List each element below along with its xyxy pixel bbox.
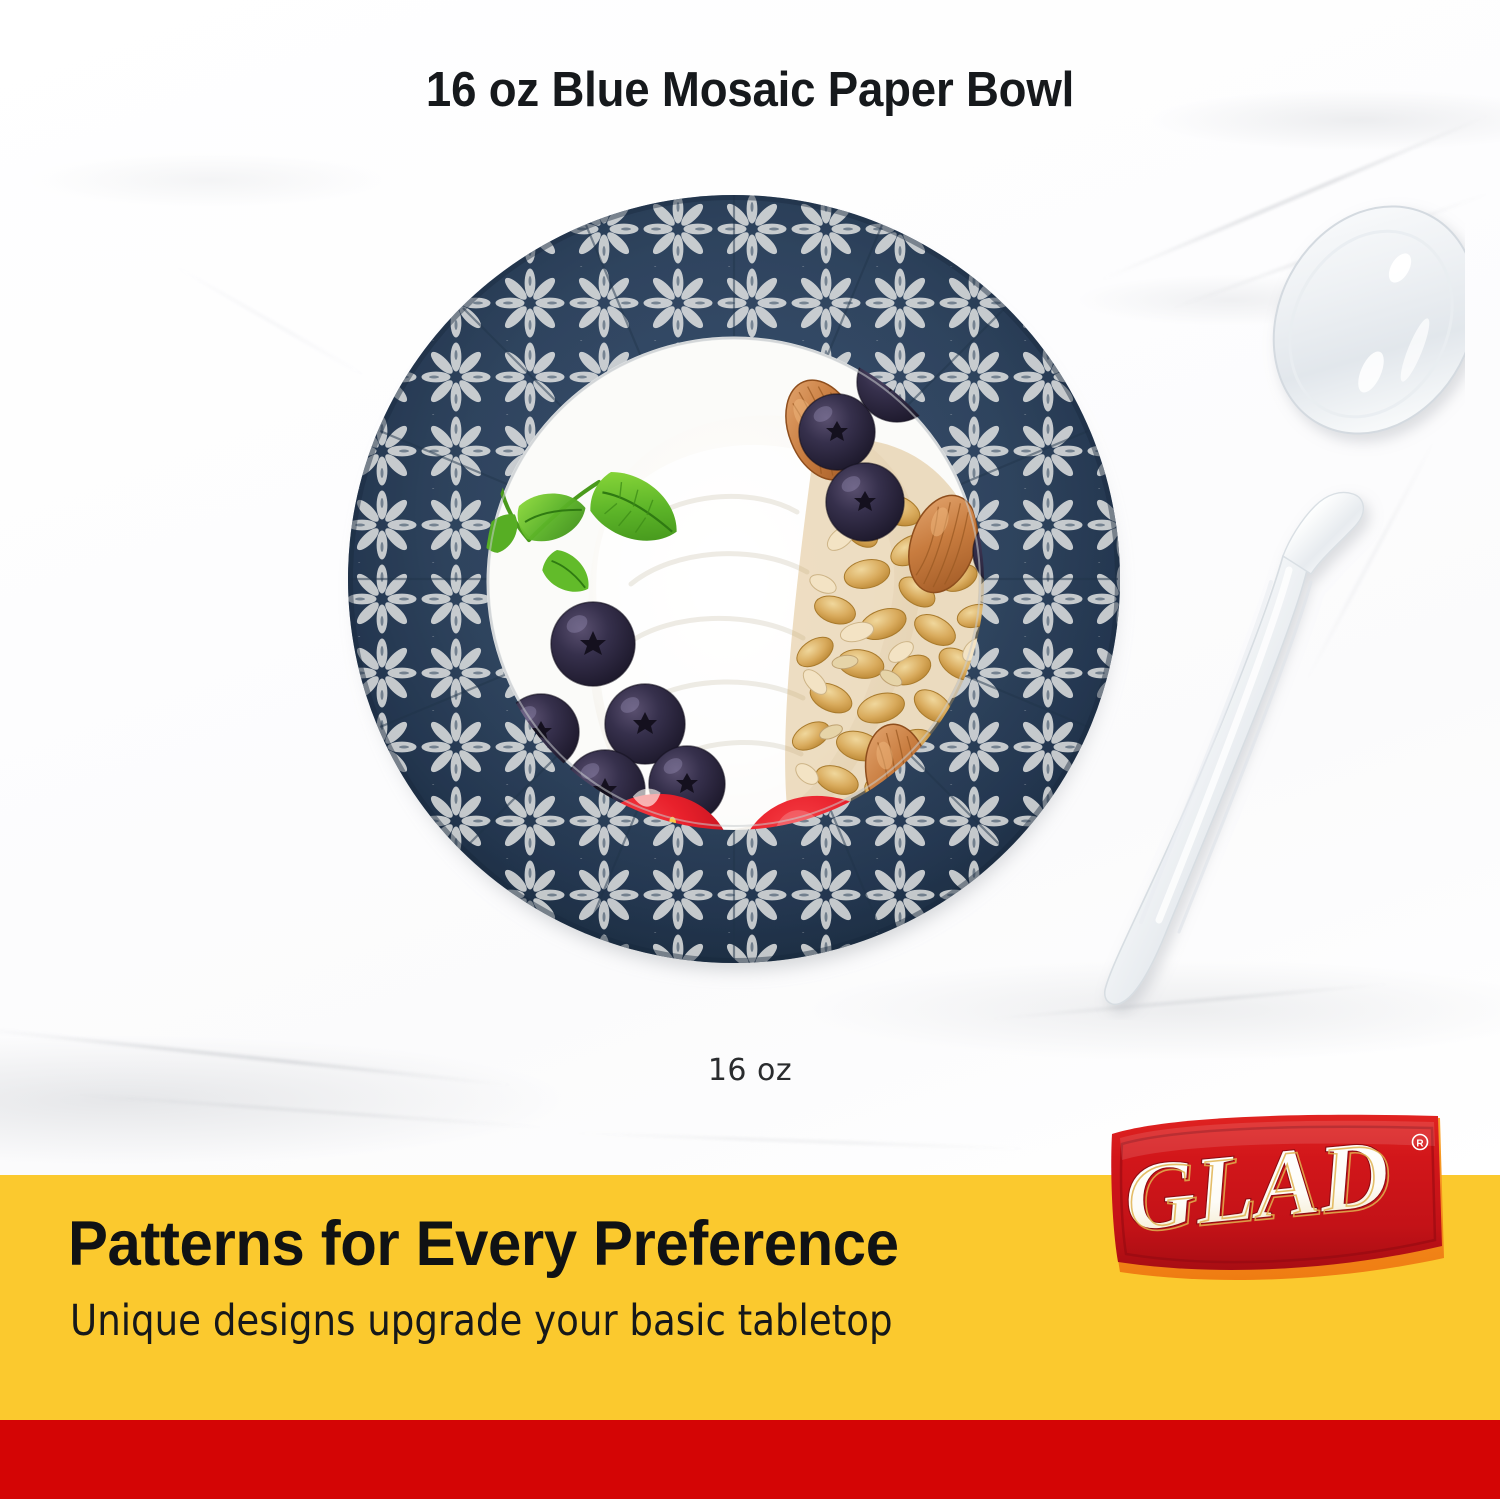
page-title: 16 oz Blue Mosaic Paper Bowl xyxy=(53,62,1448,118)
size-caption: 16 oz xyxy=(0,1053,1500,1088)
marble-vein xyxy=(61,1093,560,1130)
marble-vein xyxy=(166,260,375,382)
paper-bowl xyxy=(345,192,1123,967)
clear-plastic-spoon xyxy=(1075,190,1465,1020)
marble-vein xyxy=(560,1132,1040,1151)
banner-headline: Patterns for Every Preference xyxy=(68,1208,899,1280)
red-footer-bar xyxy=(0,1420,1500,1499)
glad-logo: GLAD GLAD R xyxy=(1104,1112,1448,1288)
svg-text:R: R xyxy=(1416,1139,1424,1150)
banner-subhead: Unique designs upgrade your basic tablet… xyxy=(70,1296,893,1346)
product-marketing-image: 16 oz Blue Mosaic Paper Bowl xyxy=(0,0,1500,1499)
